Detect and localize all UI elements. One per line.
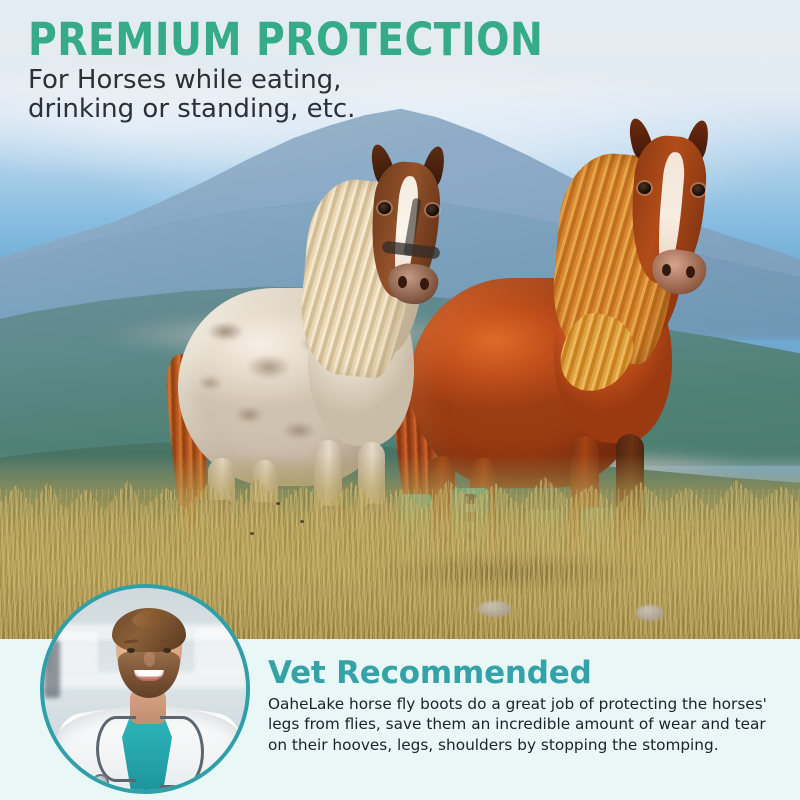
rock-2: [636, 605, 664, 621]
product-poster: PREMIUM PROTECTION For Horses while eati…: [0, 0, 800, 800]
roan-eye-left: [378, 202, 391, 214]
stethoscope-bell-left: [92, 774, 109, 791]
roan-eye-right: [426, 204, 439, 216]
vet-portrait: [40, 584, 250, 794]
vet-heading: Vet Recommended: [268, 655, 592, 691]
stethoscope-tube-left: [96, 716, 136, 782]
fly-1: [276, 502, 280, 505]
roan-nostril-right: [420, 278, 429, 290]
chestnut-eye-right: [692, 184, 705, 196]
page-subtitle: For Horses while eating, drinking or sta…: [28, 66, 355, 124]
vet-nose: [144, 652, 155, 667]
chestnut-eye-left: [638, 182, 651, 194]
vet-eye-left: [127, 648, 135, 653]
clinic-pole: [44, 640, 60, 698]
vet-eye-right: [163, 648, 171, 653]
chestnut-nostril-right: [686, 266, 695, 278]
rock-1: [478, 601, 512, 617]
fly-3: [250, 532, 254, 535]
page-title: PREMIUM PROTECTION: [28, 17, 543, 62]
fly-2: [300, 520, 304, 523]
chestnut-nostril-left: [662, 264, 671, 276]
clinic-equipment-2: [194, 628, 246, 674]
roan-nostril-left: [398, 276, 407, 288]
vet-description: OaheLake horse fly boots do a great job …: [268, 694, 774, 755]
